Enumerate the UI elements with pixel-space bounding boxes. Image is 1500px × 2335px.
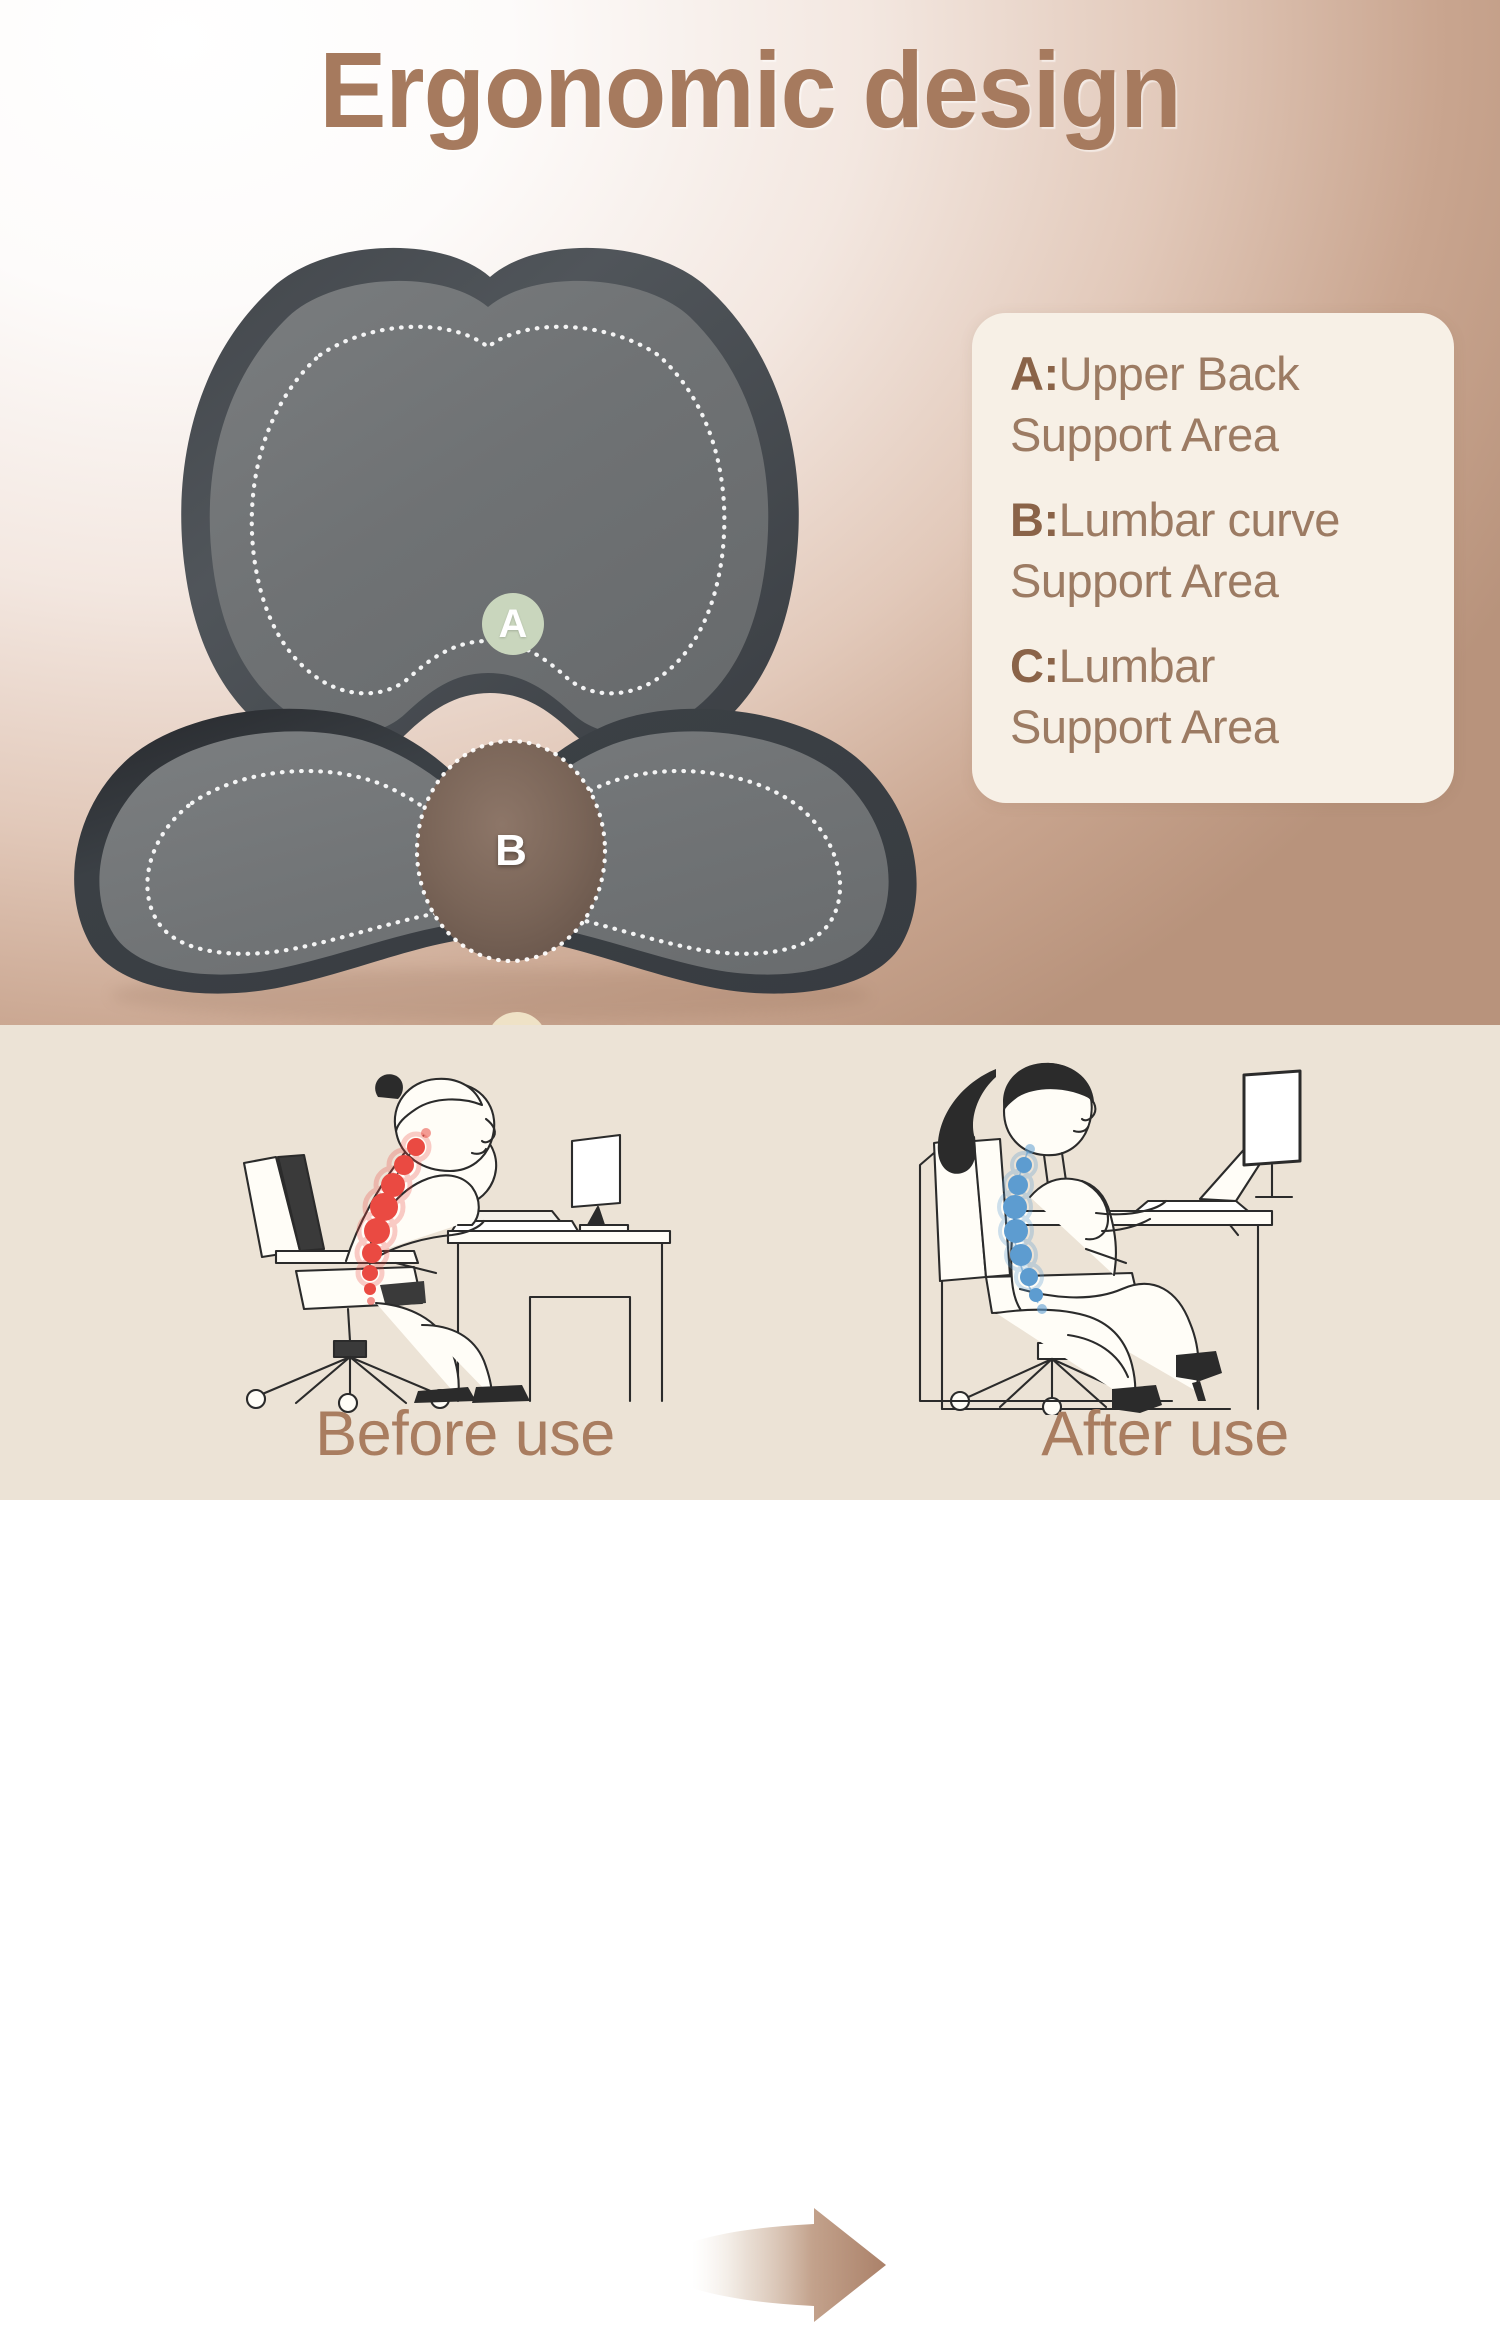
legend-text-c-1: Lumbar <box>1059 639 1215 692</box>
marker-badge-a: A <box>482 593 544 655</box>
arrow-right-icon <box>690 2200 890 2330</box>
marker-badge-b: B <box>478 818 544 884</box>
legend-item-b: B:Lumbar curve Support Area <box>1010 489 1420 611</box>
product-illustration: A B C <box>20 195 960 1025</box>
legend-text-b-1: Lumbar curve <box>1059 493 1340 546</box>
legend-key-a: A: <box>1010 347 1059 400</box>
legend-line-c-1: C:Lumbar <box>1010 635 1420 696</box>
legend-item-a: A:Upper Back Support Area <box>1010 343 1420 465</box>
support-area-legend: A:Upper Back Support Area B:Lumbar curve… <box>972 313 1454 803</box>
ergonomic-design-panel: Ergonomic design <box>0 0 1500 1025</box>
page-title: Ergonomic design <box>53 36 1448 144</box>
legend-line-a-1: A:Upper Back <box>1010 343 1420 404</box>
legend-text-a-1: Upper Back <box>1059 347 1300 400</box>
legend-key-c: C: <box>1010 639 1059 692</box>
legend-line-a-2: Support Area <box>1010 404 1420 465</box>
upper-back-cushion <box>181 248 799 758</box>
legend-item-c: C:Lumbar Support Area <box>1010 635 1420 757</box>
legend-line-b-2: Support Area <box>1010 550 1420 611</box>
legend-key-b: B: <box>1010 493 1059 546</box>
after-use-illustration <box>900 1035 1400 1415</box>
upright-posture-drawing <box>900 1035 1400 1415</box>
legend-line-c-2: Support Area <box>1010 696 1420 757</box>
after-use-caption: After use <box>700 1398 1500 1470</box>
slouched-posture-drawing <box>200 1035 700 1415</box>
before-use-illustration <box>200 1035 700 1415</box>
legend-line-b-1: B:Lumbar curve <box>1010 489 1420 550</box>
